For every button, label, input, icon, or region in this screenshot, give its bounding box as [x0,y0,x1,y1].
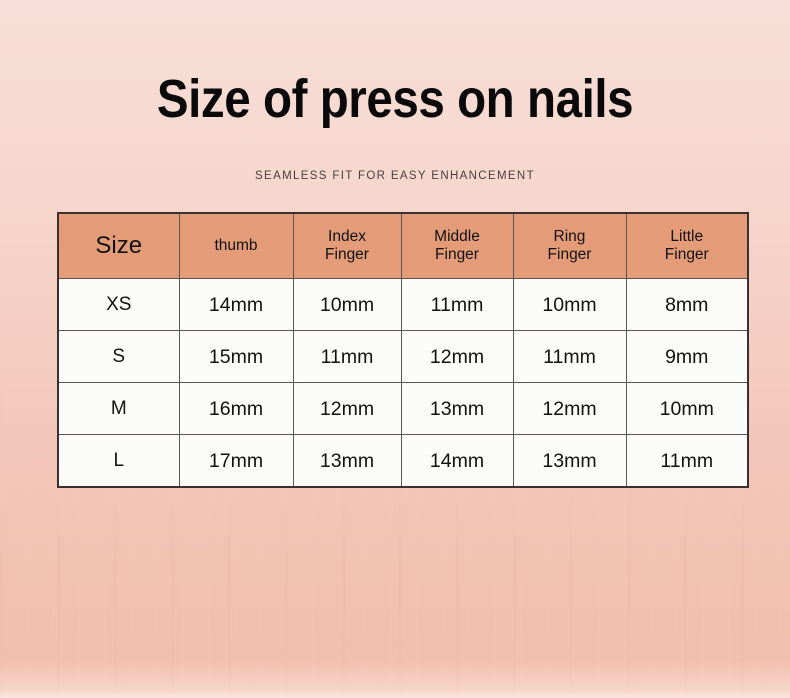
cell-little: 11mm [626,435,748,488]
column-header-ring-finger-line1: Ring [514,228,626,246]
column-header-size-line1: Size [59,233,179,259]
cell-thumb: 16mm [179,383,293,435]
cell-size: M [58,383,179,435]
page-title: Size of press on nails [47,70,742,128]
column-header-middle-finger-line1: Middle [402,228,513,246]
cell-index: 13mm [293,435,401,488]
cell-index: 10mm [293,279,401,331]
column-header-thumb-line1: thumb [180,237,293,255]
cell-size: XS [58,279,179,331]
cell-little: 9mm [626,331,748,383]
cell-little: 10mm [626,383,748,435]
cell-index: 11mm [293,331,401,383]
cell-ring: 10mm [513,279,626,331]
table-row: S 15mm 11mm 12mm 11mm 9mm [58,331,748,383]
cell-thumb: 17mm [179,435,293,488]
column-header-index-finger: Index Finger [293,213,401,279]
cell-ring: 12mm [513,383,626,435]
column-header-thumb: thumb [179,213,293,279]
column-header-ring-finger: Ring Finger [513,213,626,279]
cell-size: S [58,331,179,383]
cell-middle: 12mm [401,331,513,383]
table-row: M 16mm 12mm 13mm 12mm 10mm [58,383,748,435]
cell-ring: 11mm [513,331,626,383]
column-header-little-finger-line1: Little [627,228,748,246]
cell-middle: 13mm [401,383,513,435]
column-header-index-finger-line1: Index [294,228,401,246]
column-header-middle-finger: Middle Finger [401,213,513,279]
column-header-ring-finger-line2: Finger [514,246,626,264]
column-header-little-finger-line2: Finger [627,246,748,264]
cell-middle: 11mm [401,279,513,331]
table-header-row: Size thumb Index Finger Middle Finger Ri… [58,213,748,279]
table-row: L 17mm 13mm 14mm 13mm 11mm [58,435,748,488]
size-chart-poster: Size of press on nails SEAMLESS FIT FOR … [0,0,790,698]
table-row: XS 14mm 10mm 11mm 10mm 8mm [58,279,748,331]
cell-middle: 14mm [401,435,513,488]
cell-thumb: 14mm [179,279,293,331]
column-header-index-finger-line2: Finger [294,246,401,264]
cell-index: 12mm [293,383,401,435]
size-chart-table: Size thumb Index Finger Middle Finger Ri… [57,212,749,488]
page-subtitle: SEAMLESS FIT FOR EASY ENHANCEMENT [0,170,790,182]
cell-ring: 13mm [513,435,626,488]
column-header-little-finger: Little Finger [626,213,748,279]
cell-size: L [58,435,179,488]
column-header-size: Size [58,213,179,279]
cell-little: 8mm [626,279,748,331]
cell-thumb: 15mm [179,331,293,383]
column-header-middle-finger-line2: Finger [402,246,513,264]
